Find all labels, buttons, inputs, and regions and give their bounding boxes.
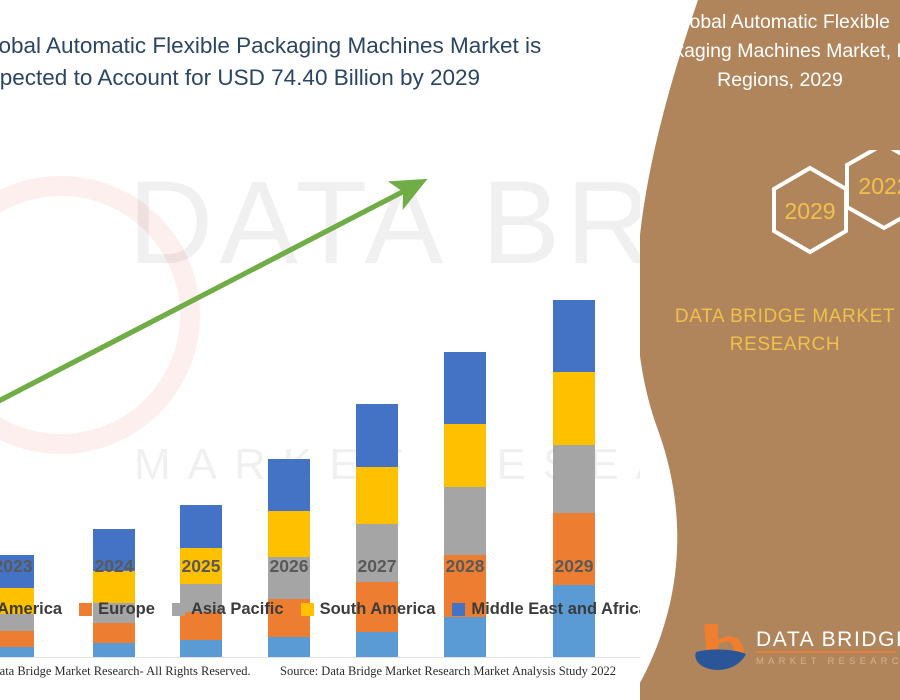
stacked-bar-chart xyxy=(0,120,660,540)
headline-line-1: Global Automatic Flexible Packaging Mach… xyxy=(0,30,556,62)
footer: © Data Bridge Market Research- All Right… xyxy=(0,664,660,690)
infographic-slide: DATA BRIDGE MARKET RESEARCH Global Autom… xyxy=(0,0,900,700)
x-axis-label-2024: 2024 xyxy=(79,556,149,577)
headline: Global Automatic Flexible Packaging Mach… xyxy=(0,30,556,94)
hexagon-2022-label: 2022 xyxy=(858,173,900,199)
legend-swatch-icon xyxy=(172,603,185,616)
panel-brand-line-2: RESEARCH xyxy=(640,331,900,359)
bar-segment xyxy=(93,643,135,657)
legend-swatch-icon xyxy=(79,603,92,616)
legend-item[interactable]: North America xyxy=(0,600,62,619)
bar-segment xyxy=(268,511,310,557)
legend-item[interactable]: Asia Pacific xyxy=(172,600,284,619)
x-axis-label-2028: 2028 xyxy=(430,556,500,577)
hexagon-2029-label: 2029 xyxy=(784,198,835,224)
bar-segment xyxy=(268,637,310,657)
bar-segment xyxy=(268,459,310,511)
bar-segment xyxy=(444,424,486,487)
chart-legend: North AmericaEuropeAsia PacificSouth Ame… xyxy=(0,596,590,622)
logo-mark-icon xyxy=(695,624,746,670)
bar-segment xyxy=(444,487,486,555)
legend-item[interactable]: South America xyxy=(301,600,436,619)
panel-title: Global Automatic Flexible Packaging Mach… xyxy=(640,8,900,95)
legend-label: Europe xyxy=(98,600,155,619)
legend-label: North America xyxy=(0,600,62,619)
legend-swatch-icon xyxy=(452,603,465,616)
data-bridge-logo: DATA BRIDGE MARKET RESEARCH xyxy=(692,618,900,680)
side-panel: Global Automatic Flexible Packaging Mach… xyxy=(640,0,900,700)
bar-segment xyxy=(444,617,486,657)
panel-title-line-3: Regions, 2029 xyxy=(640,66,900,95)
panel-title-line-1: Global Automatic Flexible xyxy=(640,8,900,37)
bar-segment xyxy=(0,631,34,647)
panel-brand: DATA BRIDGE MARKET RESEARCH xyxy=(640,303,900,359)
hexagon-2029: 2029 xyxy=(774,168,846,252)
panel-title-line-2: Packaging Machines Market, By xyxy=(640,37,900,66)
logo-name-primary: DATA BRIDGE xyxy=(756,628,900,651)
x-axis-label-2025: 2025 xyxy=(166,556,236,577)
x-axis-label-2026: 2026 xyxy=(254,556,324,577)
bar-segment xyxy=(356,404,398,467)
bar-segment xyxy=(180,640,222,657)
bar-segment xyxy=(553,372,595,445)
footer-copyright: © Data Bridge Market Research- All Right… xyxy=(0,664,251,679)
footer-source: Source: Data Bridge Market Research Mark… xyxy=(280,664,616,679)
bar-segment xyxy=(356,467,398,524)
bar-segment xyxy=(444,352,486,424)
bar-segment xyxy=(0,647,34,657)
chart-baseline xyxy=(0,657,648,658)
bar-segment xyxy=(356,632,398,657)
logo-name-secondary: MARKET RESEARCH xyxy=(756,656,900,667)
legend-label: Middle East and Africa xyxy=(471,600,647,619)
bar-2024 xyxy=(93,529,135,657)
hexagon-2022: 2022 xyxy=(847,150,900,228)
panel-brand-line-1: DATA BRIDGE MARKET xyxy=(640,303,900,331)
legend-label: South America xyxy=(320,600,436,619)
x-axis-label-2023: 2023 xyxy=(0,556,48,577)
x-axis-label-2029: 2029 xyxy=(539,556,609,577)
logo-divider xyxy=(756,651,896,653)
headline-line-2: expected to Account for USD 74.40 Billio… xyxy=(0,62,556,94)
bar-segment xyxy=(553,300,595,372)
legend-label: Asia Pacific xyxy=(191,600,284,619)
hexagon-group: 2022 2029 xyxy=(640,150,900,280)
bar-segment xyxy=(93,623,135,643)
bar-segment xyxy=(180,505,222,548)
legend-swatch-icon xyxy=(301,603,314,616)
bar-segment xyxy=(553,445,595,513)
legend-item[interactable]: Europe xyxy=(79,600,155,619)
x-axis-label-2027: 2027 xyxy=(342,556,412,577)
x-axis: 2023202420252026202720282029 xyxy=(0,556,660,582)
legend-item[interactable]: Middle East and Africa xyxy=(452,600,647,619)
